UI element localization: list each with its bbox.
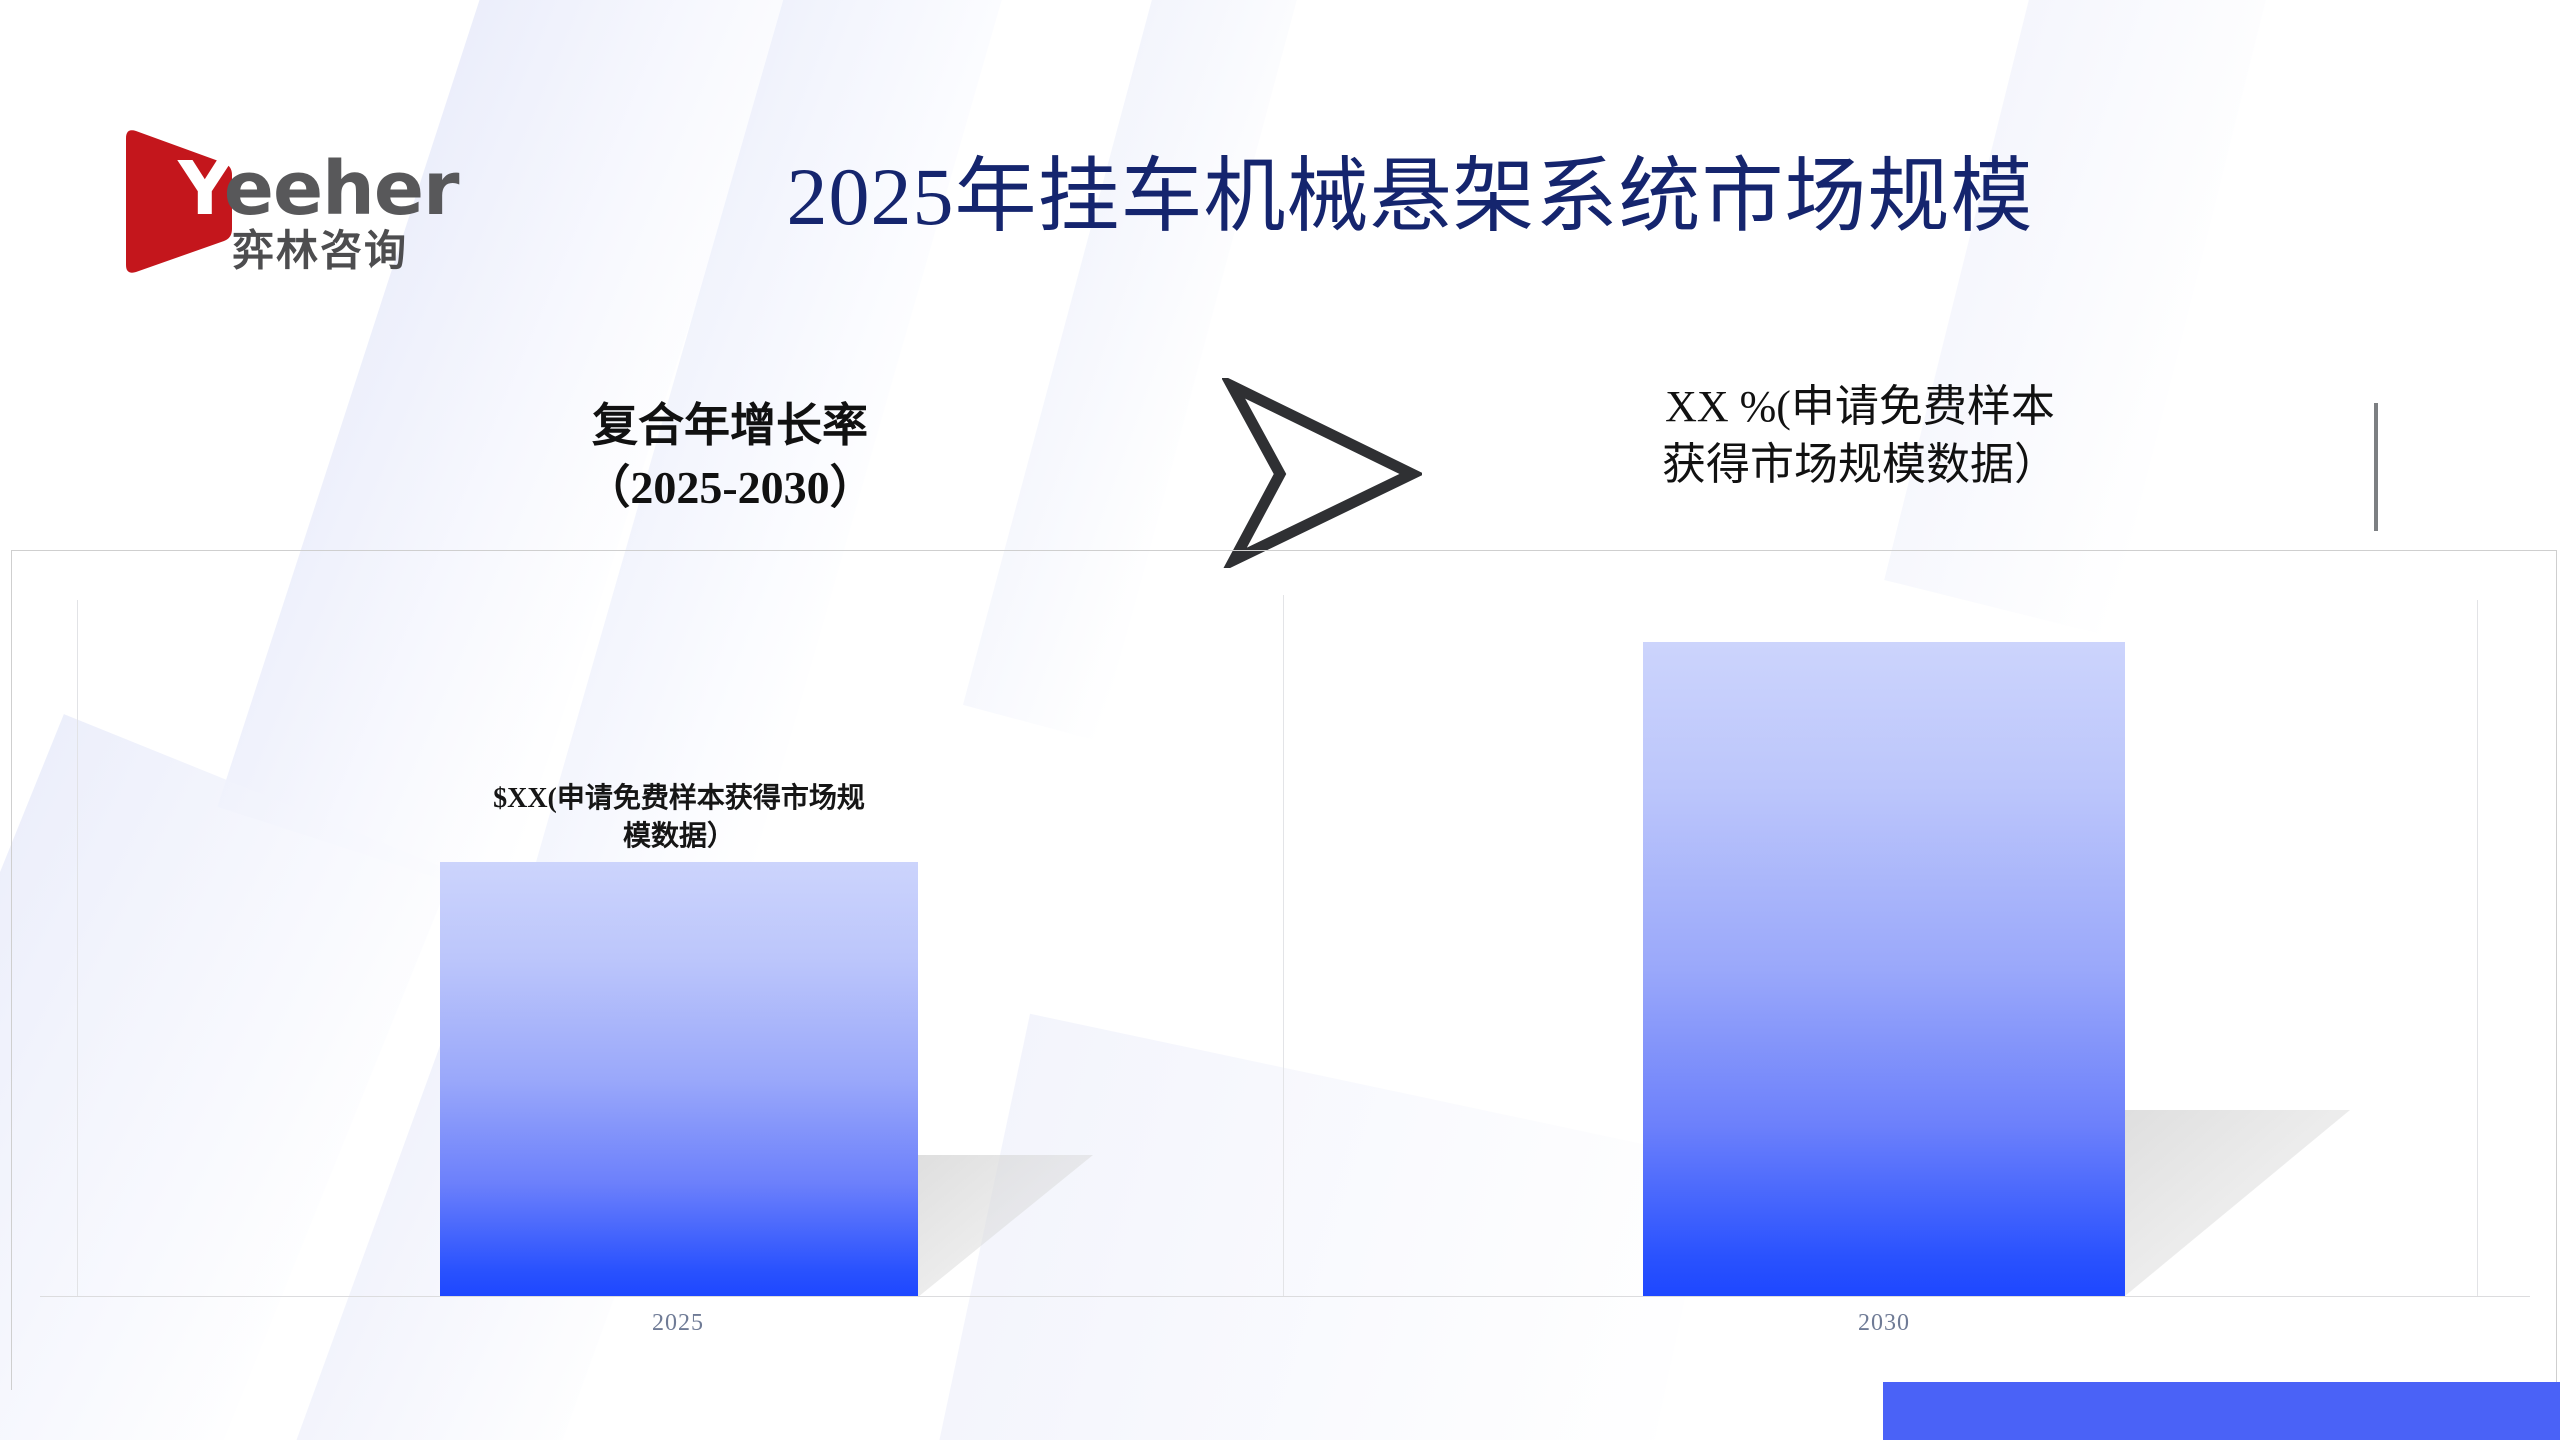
bar-value-line-1: $XX(申请免费样本获得市场规 <box>439 780 919 818</box>
arrow-right-outline-icon <box>1222 378 1422 568</box>
header-divider-rule <box>2374 403 2378 531</box>
metric-line-2: 获得市场规模数据） <box>1580 436 2140 494</box>
bottom-accent-bar <box>1883 1382 2560 1440</box>
cagr-period: （2025-2030） <box>470 457 990 519</box>
page-title: 2025年挂车机械悬架系统市场规模 <box>640 152 2180 242</box>
logo-subtitle: 弈林咨询 <box>232 230 408 272</box>
cagr-label: 复合年增长率 <box>470 395 990 457</box>
cagr-annotation: 复合年增长率 （2025-2030） <box>470 395 990 518</box>
bar-value-line-2: 模数据） <box>439 818 919 856</box>
logo-wordmark: Yeeher <box>178 152 459 226</box>
chart-baseline <box>40 1296 2530 1297</box>
logo-letter-y: Y <box>178 146 224 232</box>
bar-2025[interactable] <box>440 862 918 1296</box>
cagr-value-annotation: XX %(申请免费样本 获得市场规模数据） <box>1580 378 2140 494</box>
metric-line-1: XX %(申请免费样本 <box>1580 378 2140 436</box>
chart-panel-divider <box>1283 595 1284 1297</box>
plot-left-edge <box>77 600 78 1297</box>
plot-right-edge <box>2477 600 2478 1297</box>
brand-logo: Yeeher 弈林咨询 <box>120 118 480 298</box>
axis-label-2030: 2030 <box>1784 1310 1984 1337</box>
logo-word-rest: eeher <box>224 146 459 232</box>
axis-label-2025: 2025 <box>578 1310 778 1337</box>
background-swoosh <box>1884 0 2306 636</box>
bar-2030[interactable] <box>1643 642 2125 1296</box>
bar-value-label-2025: $XX(申请免费样本获得市场规 模数据） <box>439 780 919 856</box>
